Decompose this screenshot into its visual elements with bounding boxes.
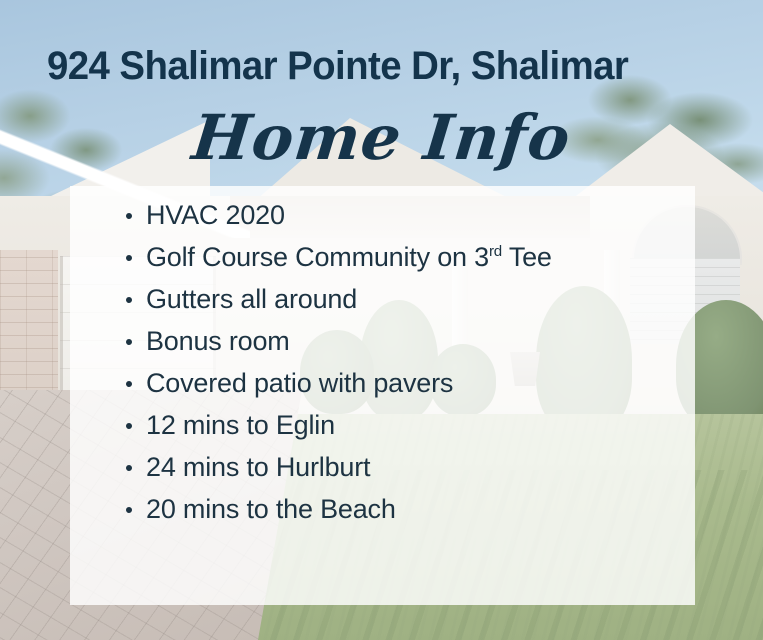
feature-list-item: Gutters all around	[122, 278, 682, 320]
bullet-dot-icon	[126, 339, 132, 345]
bullet-dot-icon	[126, 423, 132, 429]
feature-list-item: Covered patio with pavers	[122, 362, 682, 404]
feature-list-item: 20 mins to the Beach	[122, 488, 682, 530]
home-info-flyer: 924 Shalimar Pointe Dr, Shalimar Home In…	[0, 0, 763, 640]
feature-text-suffix: Tee	[502, 242, 552, 272]
home-features-list: HVAC 2020Golf Course Community on 3rd Te…	[122, 194, 682, 530]
feature-text: HVAC 2020	[146, 200, 285, 230]
bullet-dot-icon	[126, 507, 132, 513]
section-heading: Home Info	[0, 102, 763, 173]
bullet-dot-icon	[126, 297, 132, 303]
feature-text: 24 mins to Hurlburt	[146, 452, 370, 482]
feature-list-item: 12 mins to Eglin	[122, 404, 682, 446]
feature-text: Bonus room	[146, 326, 290, 356]
feature-text: Gutters all around	[146, 284, 357, 314]
bullet-dot-icon	[126, 213, 132, 219]
page-title: 924 Shalimar Pointe Dr, Shalimar	[47, 44, 700, 88]
feature-list-item: HVAC 2020	[122, 194, 682, 236]
feature-text: 12 mins to Eglin	[146, 410, 335, 440]
bullet-dot-icon	[126, 381, 132, 387]
ordinal-suffix: rd	[489, 243, 502, 260]
feature-list-item: Bonus room	[122, 320, 682, 362]
bullet-dot-icon	[126, 465, 132, 471]
feature-text: Covered patio with pavers	[146, 368, 453, 398]
feature-list-item: 24 mins to Hurlburt	[122, 446, 682, 488]
bullet-dot-icon	[126, 255, 132, 261]
feature-text: Golf Course Community on 3	[146, 242, 489, 272]
feature-text: 20 mins to the Beach	[146, 494, 396, 524]
feature-list-item: Golf Course Community on 3rd Tee	[122, 236, 682, 278]
